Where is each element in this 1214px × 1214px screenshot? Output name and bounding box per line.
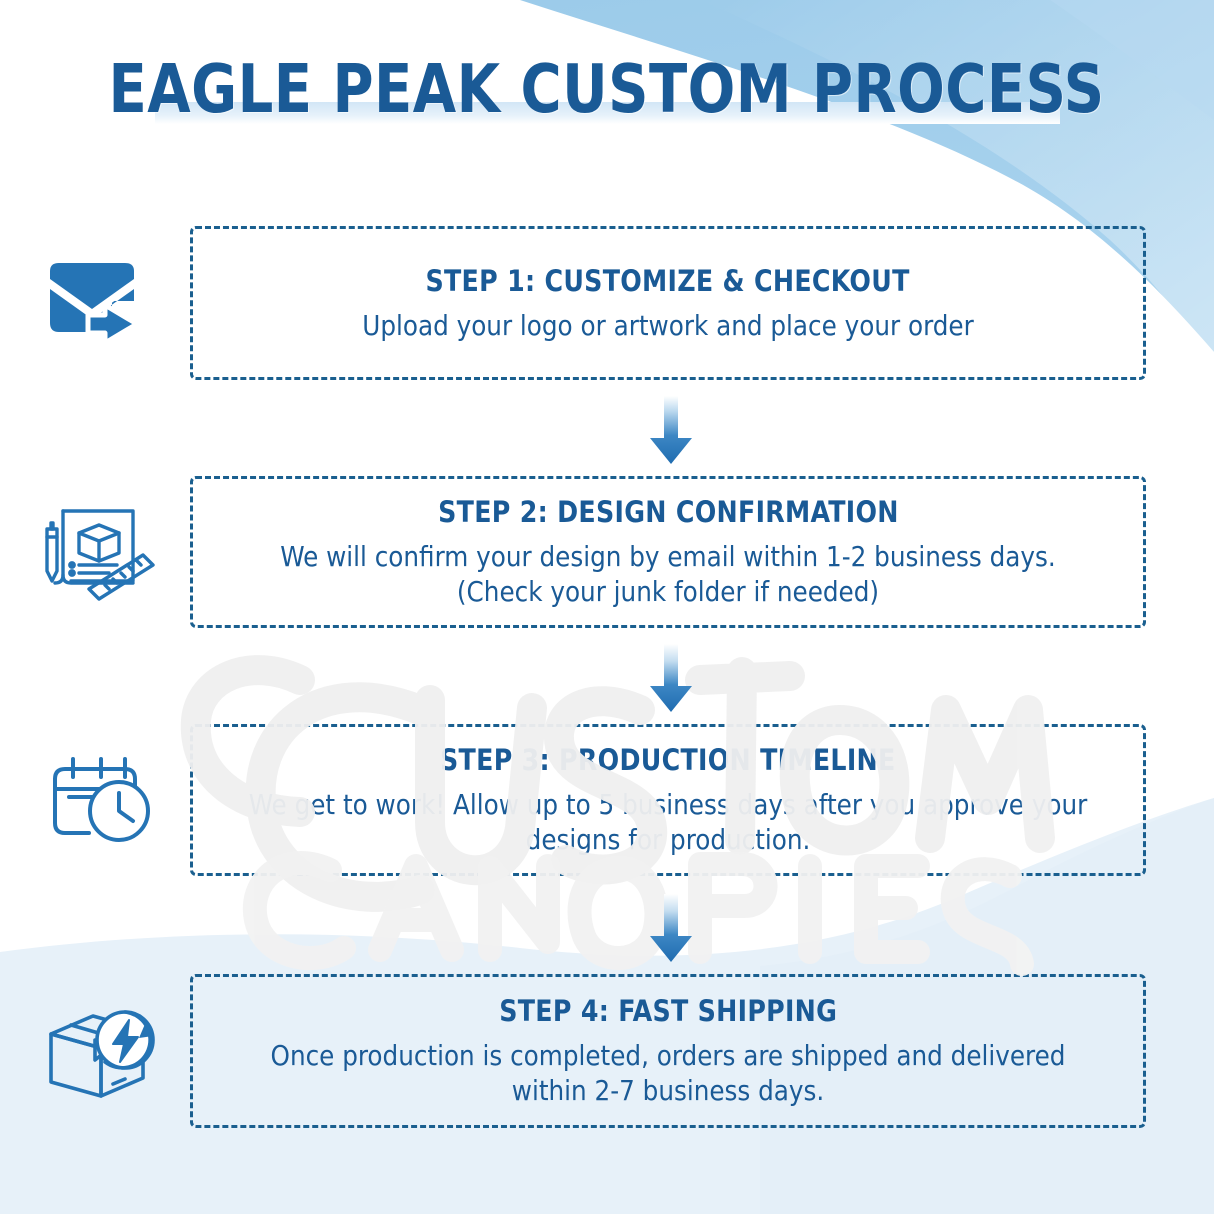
step-4-box: STEP 4: FAST SHIPPING Once production is… <box>190 974 1146 1128</box>
step-3-description: We get to work! Allow up to 5 business d… <box>237 787 1099 857</box>
step-1-description: Upload your logo or artwork and place yo… <box>362 308 974 343</box>
fast-shipping-box-icon <box>39 1000 159 1102</box>
arrow-step2-to-step3 <box>648 644 694 714</box>
step-2-icon-wrap <box>32 496 162 606</box>
step-4-description: Once production is completed, orders are… <box>237 1038 1099 1108</box>
arrow-step3-to-step4 <box>648 894 694 964</box>
step-3-heading: STEP 3: PRODUCTION TIMELINE <box>440 743 896 777</box>
page-title: EAGLE PEAK CUSTOM PROCESS <box>109 52 1105 126</box>
arrow-step1-to-step2 <box>648 396 694 466</box>
step-4-icon-wrap <box>34 996 164 1106</box>
step-3-box: STEP 3: PRODUCTION TIMELINE We get to wo… <box>190 724 1146 876</box>
step-2-box: STEP 2: DESIGN CONFIRMATION We will conf… <box>190 476 1146 628</box>
envelope-forward-icon <box>36 253 154 353</box>
page-title-wrap: EAGLE PEAK CUSTOM PROCESS <box>0 52 1214 126</box>
step-1-icon-wrap <box>30 248 160 358</box>
step-1-heading: STEP 1: CUSTOMIZE & CHECKOUT <box>426 264 910 298</box>
step-3-icon-wrap <box>36 744 166 854</box>
step-1-box: STEP 1: CUSTOMIZE & CHECKOUT Upload your… <box>190 226 1146 380</box>
step-2-description: We will confirm your design by email wit… <box>237 539 1099 609</box>
step-2-heading: STEP 2: DESIGN CONFIRMATION <box>438 495 899 529</box>
step-4-heading: STEP 4: FAST SHIPPING <box>499 994 837 1028</box>
blueprint-design-icon <box>37 499 157 603</box>
calendar-clock-icon <box>43 749 159 849</box>
